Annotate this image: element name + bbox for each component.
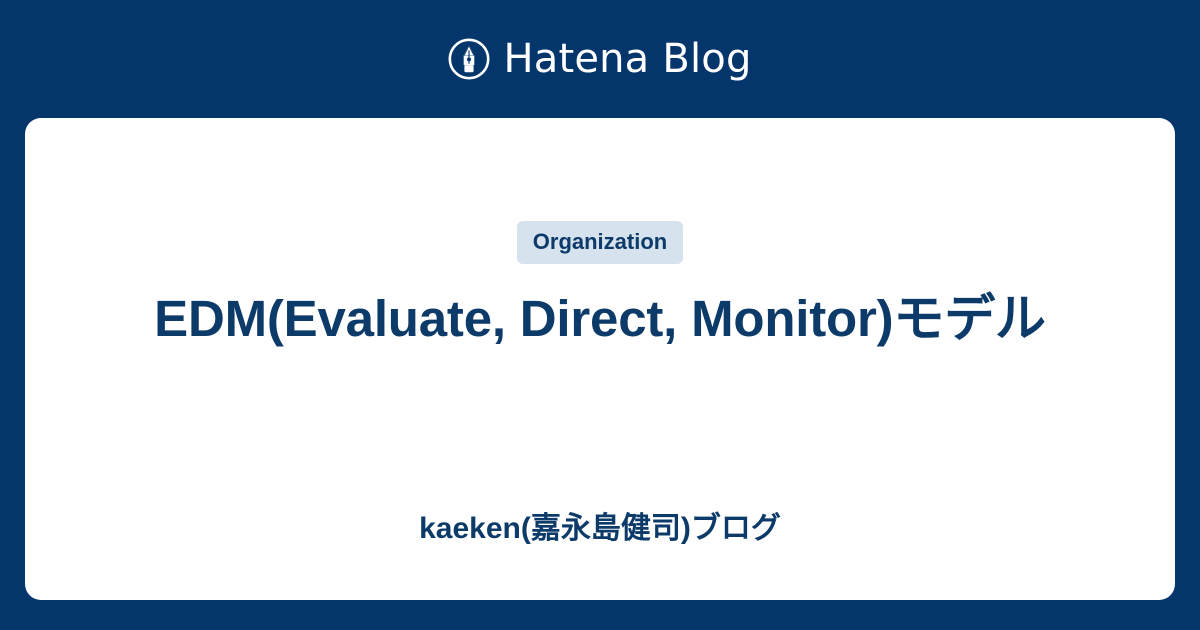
hatena-blog-brand-header: Hatena Blog [0, 0, 1200, 118]
entry-title: EDM(Evaluate, Direct, Monitor)モデル [100, 285, 1100, 352]
entry-card: Organization EDM(Evaluate, Direct, Monit… [25, 118, 1175, 600]
category-badge[interactable]: Organization [517, 221, 683, 264]
fountain-pen-nib-in-circle-icon [448, 38, 490, 80]
hatena-blog-wordmark: Hatena Blog [503, 39, 751, 79]
blog-name: kaeken(嘉永島健司)ブログ [25, 514, 1175, 544]
